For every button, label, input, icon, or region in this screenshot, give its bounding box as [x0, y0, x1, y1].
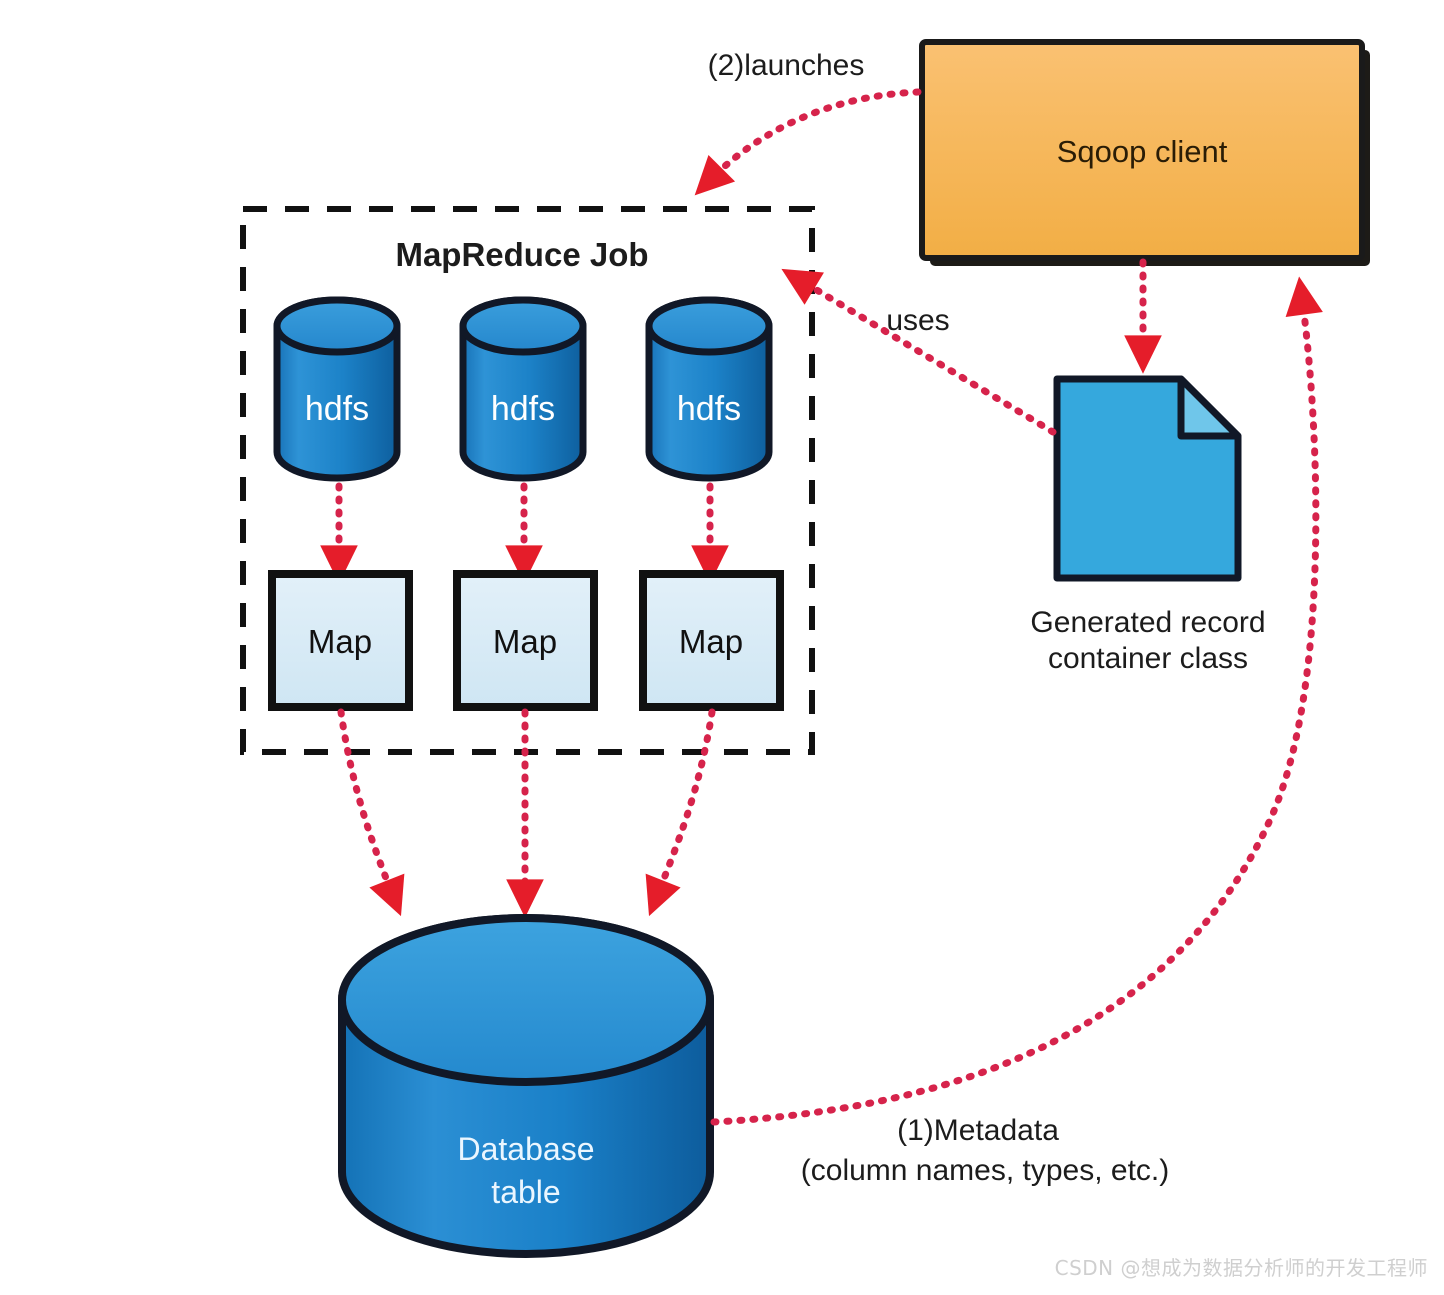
- hdfs-node-2: hdfs: [463, 300, 583, 478]
- map-node-2-label: Map: [493, 623, 557, 660]
- arrow-launches: [710, 92, 918, 180]
- generated-class-label-line2: container class: [1048, 642, 1248, 675]
- csdn-watermark: CSDN @想成为数据分析师的开发工程师: [1055, 1252, 1428, 1281]
- generated-record-class-node: Generated record container class: [1030, 379, 1265, 675]
- edge-label-uses: uses: [886, 304, 949, 337]
- sqoop-client-node[interactable]: Sqoop client: [922, 42, 1370, 266]
- edge-label-metadata-line1: (1)Metadata: [897, 1114, 1059, 1147]
- arrow-map1-to-database: [341, 712, 393, 896]
- hdfs-node-2-label: hdfs: [491, 390, 555, 428]
- arrow-map3-to-database: [657, 712, 712, 896]
- database-table-node: Database table: [342, 918, 710, 1254]
- edge-label-launches: (2)launches: [708, 49, 865, 82]
- generated-class-label-line1: Generated record: [1030, 606, 1265, 639]
- map-node-1-label: Map: [308, 623, 372, 660]
- cylinder-top-icon: [463, 300, 583, 352]
- map-node-1: Map: [272, 574, 409, 707]
- hdfs-node-3: hdfs: [649, 300, 769, 478]
- map-node-2: Map: [457, 574, 594, 707]
- sqoop-client-label: Sqoop client: [1057, 134, 1228, 169]
- database-cylinder-top-icon: [342, 918, 710, 1082]
- document-fold-icon: [1181, 379, 1238, 436]
- database-label-line1: Database: [458, 1131, 595, 1167]
- cylinder-top-icon: [277, 300, 397, 352]
- cylinder-top-icon: [649, 300, 769, 352]
- hdfs-node-1: hdfs: [277, 300, 397, 478]
- hdfs-node-3-label: hdfs: [677, 390, 741, 428]
- mapreduce-job-title: MapReduce Job: [395, 236, 648, 273]
- arrow-uses: [800, 280, 1053, 432]
- map-node-3: Map: [643, 574, 780, 707]
- map-node-3-label: Map: [679, 623, 743, 660]
- hdfs-node-1-label: hdfs: [305, 390, 369, 428]
- diagram-canvas: MapReduce Job hdfs hdfs hdfs Map: [0, 0, 1444, 1295]
- sqoop-dataflow-diagram: MapReduce Job hdfs hdfs hdfs Map: [0, 0, 1444, 1295]
- edge-label-metadata-line2: (column names, types, etc.): [801, 1154, 1169, 1187]
- database-label-line2: table: [491, 1174, 560, 1210]
